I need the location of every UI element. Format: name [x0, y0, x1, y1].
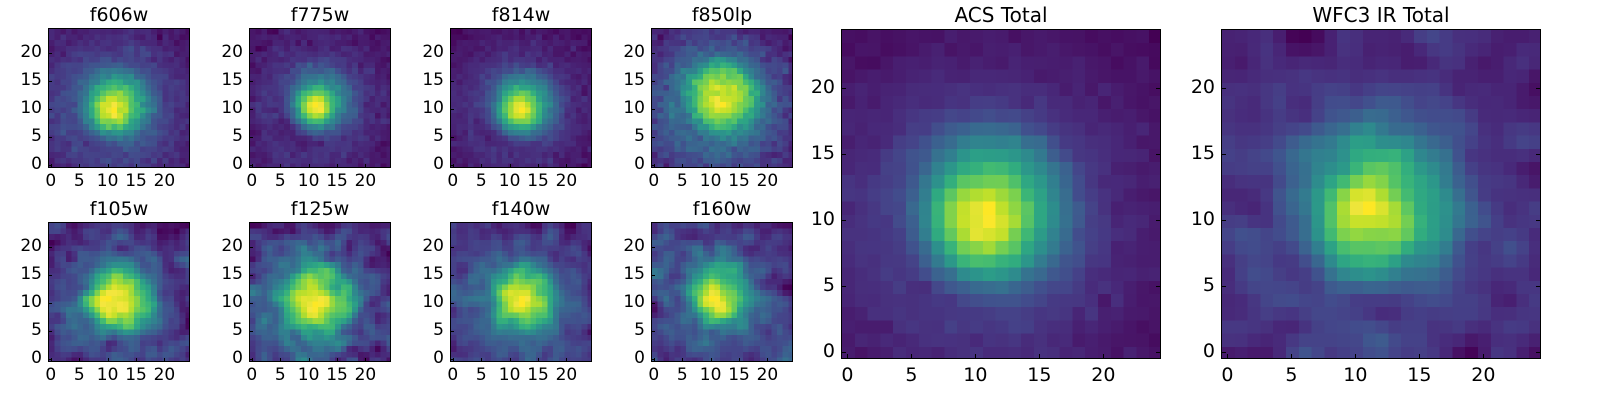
xtick-f814w-10: [510, 164, 511, 168]
xticklabel-f850lp-10: 10: [686, 173, 736, 190]
heatmap-image: [1222, 30, 1541, 359]
xticklabel-f160w-15: 15: [714, 367, 764, 384]
ytick-f775w-5: [249, 137, 253, 138]
xtick-f105w-0: [51, 358, 52, 362]
xticklabel-wfc3-ir-total-20: 20: [1458, 366, 1508, 385]
xticklabel-f160w-20: 20: [742, 367, 792, 384]
yticklabel-f814w-20: 20: [404, 44, 444, 61]
ytick-right-wfc3-ir-total-5: [1536, 286, 1541, 287]
ytick-f140w-5: [450, 331, 454, 332]
ytick-f814w-20: [450, 53, 454, 54]
yticklabel-f160w-10: 10: [605, 294, 645, 311]
xtick-f125w-0: [252, 358, 253, 362]
xticklabel-f775w-0: 0: [227, 173, 277, 190]
ytick-f160w-20: [651, 247, 655, 248]
panel-f160w: f160w0510152005101520: [0, 0, 1600, 400]
axes-f140w: [450, 222, 592, 362]
ytick-f814w-0: [450, 165, 454, 166]
xticklabel-f850lp-20: 20: [742, 173, 792, 190]
panel-title-acs-total: ACS Total: [841, 5, 1161, 25]
xtick-acs-total-15: [1039, 354, 1040, 359]
panel-title-f140w: f140w: [450, 200, 592, 219]
panel-title-f814w: f814w: [450, 6, 592, 25]
xticklabel-f606w-10: 10: [83, 173, 133, 190]
yticklabel-f606w-0: 0: [2, 156, 42, 173]
panel-f140w: f140w0510152005101520: [0, 0, 1600, 400]
ytick-f850lp-20: [651, 53, 655, 54]
ytick-right-acs-total-20: [1156, 88, 1161, 89]
heatmap-image: [250, 223, 391, 362]
xticklabel-f160w-10: 10: [686, 367, 736, 384]
yticklabel-f105w-20: 20: [2, 238, 42, 255]
xticklabel-f125w-5: 5: [255, 367, 305, 384]
xticklabel-f105w-15: 15: [111, 367, 161, 384]
yticklabel-f775w-20: 20: [203, 44, 243, 61]
panel-f775w: f775w0510152005101520: [0, 0, 1600, 400]
xtick-wfc3-ir-total-20: [1483, 354, 1484, 359]
xticklabel-wfc3-ir-total-0: 0: [1202, 366, 1252, 385]
panel-f606w: f606w0510152005101520: [0, 0, 1600, 400]
yticklabel-f606w-5: 5: [2, 128, 42, 145]
xticklabel-f606w-20: 20: [139, 173, 189, 190]
axes-wfc3-ir-total: [1221, 29, 1541, 359]
ytick-right-acs-total-5: [1156, 286, 1161, 287]
ytick-f775w-10: [249, 109, 253, 110]
xtick-f160w-10: [711, 358, 712, 362]
axes-f125w: [249, 222, 391, 362]
panel-title-f850lp: f850lp: [651, 6, 793, 25]
yticklabel-f814w-15: 15: [404, 72, 444, 89]
xticklabel-f775w-5: 5: [255, 173, 305, 190]
yticklabel-f125w-20: 20: [203, 238, 243, 255]
axes-f850lp: [651, 28, 793, 168]
ytick-wfc3-ir-total-5: [1221, 286, 1226, 287]
yticklabel-f125w-5: 5: [203, 322, 243, 339]
xticklabel-f775w-20: 20: [340, 173, 390, 190]
ytick-f105w-10: [48, 303, 52, 304]
ytick-f105w-0: [48, 359, 52, 360]
heatmap-image: [451, 29, 592, 168]
xtick-f850lp-10: [711, 164, 712, 168]
xtick-f775w-0: [252, 164, 253, 168]
yticklabel-f606w-20: 20: [2, 44, 42, 61]
heatmap-image: [49, 223, 190, 362]
ytick-wfc3-ir-total-10: [1221, 220, 1226, 221]
heatmap-image: [652, 29, 793, 168]
xticklabel-f140w-5: 5: [456, 367, 506, 384]
axes-f775w: [249, 28, 391, 168]
xticklabel-f125w-10: 10: [284, 367, 334, 384]
yticklabel-f140w-10: 10: [404, 294, 444, 311]
heatmap-image: [451, 223, 592, 362]
yticklabel-wfc3-ir-total-20: 20: [1175, 78, 1215, 97]
ytick-f775w-0: [249, 165, 253, 166]
xticklabel-f160w-0: 0: [629, 367, 679, 384]
heatmap-image: [49, 29, 190, 168]
xticklabel-f606w-5: 5: [54, 173, 104, 190]
xticklabel-f125w-0: 0: [227, 367, 277, 384]
yticklabel-acs-total-0: 0: [795, 342, 835, 361]
ytick-right-acs-total-15: [1156, 154, 1161, 155]
yticklabel-f140w-5: 5: [404, 322, 444, 339]
ytick-acs-total-15: [841, 154, 846, 155]
yticklabel-f105w-15: 15: [2, 266, 42, 283]
xticklabel-wfc3-ir-total-5: 5: [1266, 366, 1316, 385]
xtick-f160w-20: [767, 358, 768, 362]
yticklabel-f814w-5: 5: [404, 128, 444, 145]
ytick-f850lp-5: [651, 137, 655, 138]
xticklabel-f606w-15: 15: [111, 173, 161, 190]
xticklabel-f140w-10: 10: [485, 367, 535, 384]
yticklabel-f105w-10: 10: [2, 294, 42, 311]
xticklabel-f125w-20: 20: [340, 367, 390, 384]
ytick-f606w-0: [48, 165, 52, 166]
xtick-f140w-15: [538, 358, 539, 362]
yticklabel-f160w-0: 0: [605, 350, 645, 367]
xticklabel-f140w-15: 15: [513, 367, 563, 384]
xtick-f125w-5: [280, 358, 281, 362]
ytick-right-wfc3-ir-total-15: [1536, 154, 1541, 155]
ytick-f105w-20: [48, 247, 52, 248]
axes-f105w: [48, 222, 190, 362]
xtick-f850lp-15: [739, 164, 740, 168]
ytick-f606w-20: [48, 53, 52, 54]
panel-wfc3-ir-total: WFC3 IR Total0510152005101520: [0, 0, 1600, 400]
ytick-f160w-15: [651, 275, 655, 276]
xticklabel-f814w-15: 15: [513, 173, 563, 190]
ytick-f814w-15: [450, 81, 454, 82]
xtick-wfc3-ir-total-10: [1355, 354, 1356, 359]
panel-f850lp: f850lp0510152005101520: [0, 0, 1600, 400]
axes-f160w: [651, 222, 793, 362]
xticklabel-wfc3-ir-total-10: 10: [1330, 366, 1380, 385]
yticklabel-f850lp-5: 5: [605, 128, 645, 145]
ytick-f160w-10: [651, 303, 655, 304]
xtick-wfc3-ir-total-5: [1291, 354, 1292, 359]
xtick-f140w-5: [481, 358, 482, 362]
ytick-f140w-0: [450, 359, 454, 360]
xtick-f125w-20: [365, 358, 366, 362]
ytick-right-wfc3-ir-total-0: [1536, 352, 1541, 353]
xtick-f850lp-20: [767, 164, 768, 168]
xtick-f105w-10: [108, 358, 109, 362]
panel-title-f125w: f125w: [249, 200, 391, 219]
yticklabel-f850lp-15: 15: [605, 72, 645, 89]
yticklabel-f125w-0: 0: [203, 350, 243, 367]
xtick-f606w-20: [164, 164, 165, 168]
xticklabel-wfc3-ir-total-15: 15: [1394, 366, 1444, 385]
xtick-f814w-20: [566, 164, 567, 168]
heatmap-image: [250, 29, 391, 168]
yticklabel-wfc3-ir-total-15: 15: [1175, 144, 1215, 163]
yticklabel-f775w-0: 0: [203, 156, 243, 173]
yticklabel-f606w-10: 10: [2, 100, 42, 117]
xticklabel-acs-total-10: 10: [950, 366, 1000, 385]
xticklabel-f125w-15: 15: [312, 367, 362, 384]
xticklabel-f140w-20: 20: [541, 367, 591, 384]
yticklabel-f125w-15: 15: [203, 266, 243, 283]
xtick-f775w-5: [280, 164, 281, 168]
yticklabel-f105w-5: 5: [2, 322, 42, 339]
xticklabel-f105w-10: 10: [83, 367, 133, 384]
xtick-f606w-0: [51, 164, 52, 168]
yticklabel-acs-total-15: 15: [795, 144, 835, 163]
xticklabel-f606w-0: 0: [26, 173, 76, 190]
xticklabel-acs-total-5: 5: [886, 366, 936, 385]
yticklabel-f140w-15: 15: [404, 266, 444, 283]
xtick-wfc3-ir-total-0: [1227, 354, 1228, 359]
xtick-acs-total-10: [975, 354, 976, 359]
yticklabel-f606w-15: 15: [2, 72, 42, 89]
ytick-right-wfc3-ir-total-20: [1536, 88, 1541, 89]
ytick-f125w-0: [249, 359, 253, 360]
yticklabel-acs-total-20: 20: [795, 78, 835, 97]
xtick-f814w-15: [538, 164, 539, 168]
yticklabel-f160w-5: 5: [605, 322, 645, 339]
panel-acs-total: ACS Total0510152005101520: [0, 0, 1600, 400]
panel-f814w: f814w0510152005101520: [0, 0, 1600, 400]
xtick-f140w-10: [510, 358, 511, 362]
ytick-f160w-5: [651, 331, 655, 332]
ytick-right-acs-total-0: [1156, 352, 1161, 353]
xticklabel-f105w-5: 5: [54, 367, 104, 384]
xticklabel-f775w-10: 10: [284, 173, 334, 190]
ytick-f125w-20: [249, 247, 253, 248]
yticklabel-f850lp-0: 0: [605, 156, 645, 173]
xtick-f105w-15: [136, 358, 137, 362]
ytick-f140w-20: [450, 247, 454, 248]
ytick-f775w-20: [249, 53, 253, 54]
ytick-f606w-5: [48, 137, 52, 138]
yticklabel-wfc3-ir-total-10: 10: [1175, 210, 1215, 229]
ytick-acs-total-0: [841, 352, 846, 353]
panel-title-f775w: f775w: [249, 6, 391, 25]
xtick-f606w-5: [79, 164, 80, 168]
ytick-wfc3-ir-total-20: [1221, 88, 1226, 89]
xtick-f105w-5: [79, 358, 80, 362]
ytick-f140w-10: [450, 303, 454, 304]
ytick-f140w-15: [450, 275, 454, 276]
yticklabel-f140w-20: 20: [404, 238, 444, 255]
xtick-f125w-15: [337, 358, 338, 362]
xticklabel-f814w-5: 5: [456, 173, 506, 190]
xtick-f850lp-0: [654, 164, 655, 168]
ytick-right-wfc3-ir-total-10: [1536, 220, 1541, 221]
ytick-f125w-5: [249, 331, 253, 332]
ytick-f160w-0: [651, 359, 655, 360]
xticklabel-acs-total-15: 15: [1014, 366, 1064, 385]
xtick-acs-total-20: [1103, 354, 1104, 359]
ytick-f814w-10: [450, 109, 454, 110]
xtick-wfc3-ir-total-15: [1419, 354, 1420, 359]
panel-title-f160w: f160w: [651, 200, 793, 219]
ytick-wfc3-ir-total-0: [1221, 352, 1226, 353]
yticklabel-f125w-10: 10: [203, 294, 243, 311]
yticklabel-f160w-15: 15: [605, 266, 645, 283]
xticklabel-f775w-15: 15: [312, 173, 362, 190]
xtick-f105w-20: [164, 358, 165, 362]
heatmap-image: [842, 30, 1161, 359]
yticklabel-f814w-0: 0: [404, 156, 444, 173]
panel-title-f105w: f105w: [48, 200, 190, 219]
ytick-f125w-15: [249, 275, 253, 276]
xticklabel-f850lp-0: 0: [629, 173, 679, 190]
ytick-f850lp-15: [651, 81, 655, 82]
xticklabel-f850lp-15: 15: [714, 173, 764, 190]
xtick-f775w-20: [365, 164, 366, 168]
xtick-f775w-15: [337, 164, 338, 168]
xtick-f814w-0: [453, 164, 454, 168]
ytick-acs-total-20: [841, 88, 846, 89]
xtick-f606w-10: [108, 164, 109, 168]
ytick-wfc3-ir-total-15: [1221, 154, 1226, 155]
ytick-f814w-5: [450, 137, 454, 138]
axes-acs-total: [841, 29, 1161, 359]
axes-f606w: [48, 28, 190, 168]
xticklabel-acs-total-20: 20: [1078, 366, 1128, 385]
yticklabel-acs-total-5: 5: [795, 276, 835, 295]
xtick-f606w-15: [136, 164, 137, 168]
axes-f814w: [450, 28, 592, 168]
xtick-f850lp-5: [682, 164, 683, 168]
yticklabel-f775w-10: 10: [203, 100, 243, 117]
heatmap-image: [652, 223, 793, 362]
xtick-f140w-0: [453, 358, 454, 362]
xticklabel-acs-total-0: 0: [822, 366, 872, 385]
xticklabel-f105w-20: 20: [139, 367, 189, 384]
xtick-f160w-5: [682, 358, 683, 362]
xticklabel-f814w-20: 20: [541, 173, 591, 190]
yticklabel-f775w-15: 15: [203, 72, 243, 89]
yticklabel-f850lp-10: 10: [605, 100, 645, 117]
xtick-f814w-5: [481, 164, 482, 168]
ytick-right-acs-total-10: [1156, 220, 1161, 221]
yticklabel-f140w-0: 0: [404, 350, 444, 367]
ytick-acs-total-10: [841, 220, 846, 221]
ytick-acs-total-5: [841, 286, 846, 287]
xtick-f160w-0: [654, 358, 655, 362]
ytick-f850lp-0: [651, 165, 655, 166]
ytick-f606w-15: [48, 81, 52, 82]
xticklabel-f160w-5: 5: [657, 367, 707, 384]
yticklabel-f850lp-20: 20: [605, 44, 645, 61]
xticklabel-f814w-10: 10: [485, 173, 535, 190]
panel-title-wfc3-ir-total: WFC3 IR Total: [1221, 5, 1541, 25]
yticklabel-f160w-20: 20: [605, 238, 645, 255]
panel-f105w: f105w0510152005101520: [0, 0, 1600, 400]
ytick-f850lp-10: [651, 109, 655, 110]
xticklabel-f850lp-5: 5: [657, 173, 707, 190]
yticklabel-f105w-0: 0: [2, 350, 42, 367]
yticklabel-acs-total-10: 10: [795, 210, 835, 229]
xtick-acs-total-0: [847, 354, 848, 359]
yticklabel-f775w-5: 5: [203, 128, 243, 145]
xtick-f140w-20: [566, 358, 567, 362]
panel-title-f606w: f606w: [48, 6, 190, 25]
figure-canvas: f606w0510152005101520f775w05101520051015…: [0, 0, 1600, 400]
ytick-f125w-10: [249, 303, 253, 304]
yticklabel-f814w-10: 10: [404, 100, 444, 117]
panel-f125w: f125w0510152005101520: [0, 0, 1600, 400]
xticklabel-f105w-0: 0: [26, 367, 76, 384]
xticklabel-f814w-0: 0: [428, 173, 478, 190]
ytick-f606w-10: [48, 109, 52, 110]
xtick-f160w-15: [739, 358, 740, 362]
xtick-acs-total-5: [911, 354, 912, 359]
ytick-f105w-15: [48, 275, 52, 276]
xticklabel-f140w-0: 0: [428, 367, 478, 384]
yticklabel-wfc3-ir-total-5: 5: [1175, 276, 1215, 295]
yticklabel-wfc3-ir-total-0: 0: [1175, 342, 1215, 361]
ytick-f775w-15: [249, 81, 253, 82]
xtick-f125w-10: [309, 358, 310, 362]
ytick-f105w-5: [48, 331, 52, 332]
xtick-f775w-10: [309, 164, 310, 168]
